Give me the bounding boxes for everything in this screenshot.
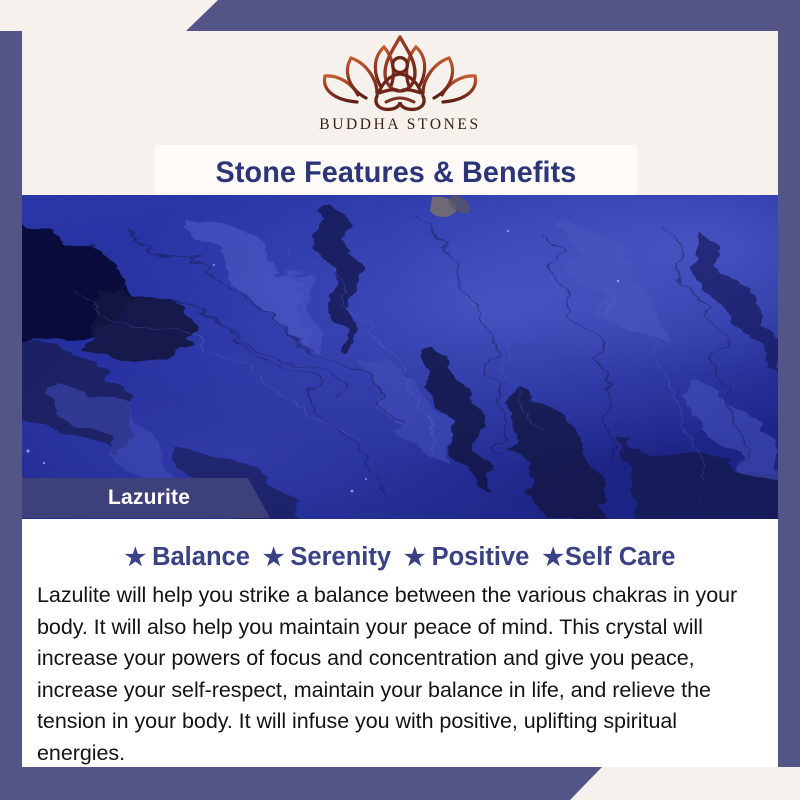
star-icon: ★ (263, 546, 285, 570)
benefit-item-1: ★ Serenity (263, 543, 391, 572)
content-card: ★ Balance ★ Serenity ★ Positive ★ Self C… (22, 519, 778, 767)
frame-top-bar (0, 0, 800, 31)
brand-header: BUDDHA STONES (22, 31, 778, 145)
benefit-label: Positive (432, 543, 530, 572)
stone-name-label: Lazurite (108, 486, 190, 510)
brand-name: BUDDHA STONES (285, 116, 515, 134)
stone-description: Lazulite will help you strike a balance … (35, 580, 765, 767)
brand-logo: BUDDHA STONES (285, 31, 515, 134)
benefit-item-0: ★ Balance (125, 543, 250, 572)
stone-name-tag: Lazurite (22, 478, 270, 518)
frame-right-bar (778, 31, 800, 767)
page-title: Stone Features & Benefits (216, 156, 577, 190)
star-icon: ★ (125, 546, 147, 570)
lotus-meditation-figure-icon (311, 31, 489, 115)
frame-left-bar (0, 31, 22, 767)
benefit-label: Serenity (290, 543, 391, 572)
benefits-list: ★ Balance ★ Serenity ★ Positive ★ Self C… (35, 543, 765, 572)
star-icon: ★ (404, 546, 426, 570)
benefit-label: Self Care (565, 543, 676, 572)
frame-bottom-bar (0, 767, 800, 800)
star-icon: ★ (542, 546, 564, 570)
title-panel: Stone Features & Benefits (155, 145, 637, 200)
benefit-label: Balance (152, 543, 250, 572)
poster-inner: BUDDHA STONES Stone Features & Benefits (22, 31, 778, 767)
benefit-item-3: ★ Self Care (542, 543, 675, 572)
stone-photo-graphic (22, 195, 778, 519)
stone-photo (22, 195, 778, 519)
benefit-item-2: ★ Positive (404, 543, 529, 572)
poster-root: BUDDHA STONES Stone Features & Benefits (0, 0, 800, 800)
